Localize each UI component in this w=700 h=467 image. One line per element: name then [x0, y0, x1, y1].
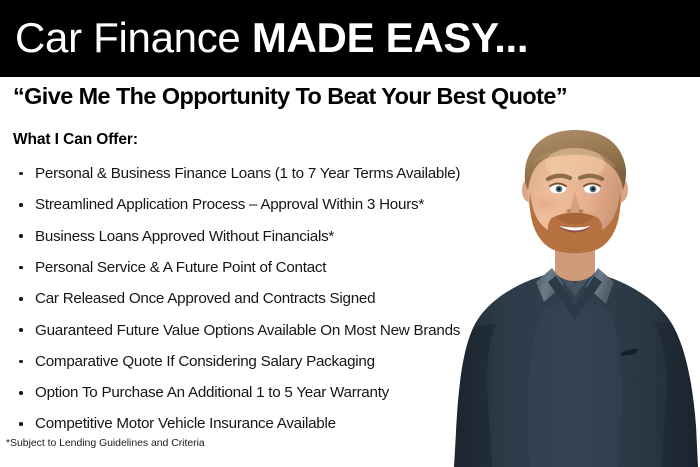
list-item: Competitive Motor Vehicle Insurance Avai… — [13, 408, 543, 439]
bullet-icon — [19, 391, 23, 395]
list-item: Personal & Business Finance Loans (1 to … — [13, 158, 543, 189]
page-title-bold: MADE EASY... — [252, 14, 528, 61]
bullet-icon — [19, 203, 23, 207]
list-item-label: Option To Purchase An Additional 1 to 5 … — [35, 385, 389, 400]
bullet-icon — [19, 297, 23, 301]
page-title: Car Finance MADE EASY... — [15, 17, 528, 59]
car-finance-poster: Car Finance MADE EASY... “Give Me The Op… — [0, 0, 700, 467]
list-item: Personal Service & A Future Point of Con… — [13, 252, 543, 283]
page-title-light: Car Finance — [15, 14, 252, 61]
bullet-icon — [19, 234, 23, 238]
offers-subheading: What I Can Offer: — [13, 131, 138, 149]
bullet-icon — [19, 172, 23, 176]
list-item-label: Personal & Business Finance Loans (1 to … — [35, 166, 460, 181]
bullet-icon — [19, 266, 23, 270]
list-item: Streamlined Application Process – Approv… — [13, 189, 543, 220]
cheek-right — [589, 194, 619, 214]
headline-quote: “Give Me The Opportunity To Beat Your Be… — [13, 84, 687, 109]
list-item-label: Comparative Quote If Considering Salary … — [35, 354, 375, 369]
list-item-label: Competitive Motor Vehicle Insurance Avai… — [35, 416, 336, 431]
bullet-icon — [19, 328, 23, 332]
list-item: Comparative Quote If Considering Salary … — [13, 346, 543, 377]
list-item-label: Guaranteed Future Value Options Availabl… — [35, 323, 460, 338]
list-item-label: Business Loans Approved Without Financia… — [35, 229, 334, 244]
bullet-icon — [19, 360, 23, 364]
header-band: Car Finance MADE EASY... — [0, 0, 700, 77]
list-item-label: Personal Service & A Future Point of Con… — [35, 260, 326, 275]
list-item-label: Car Released Once Approved and Contracts… — [35, 291, 375, 306]
nostril-right — [579, 209, 584, 212]
list-item: Option To Purchase An Additional 1 to 5 … — [13, 377, 543, 408]
list-item-label: Streamlined Application Process – Approv… — [35, 197, 424, 212]
list-item: Car Released Once Approved and Contracts… — [13, 283, 543, 314]
nostril-left — [567, 209, 572, 212]
offers-list: Personal & Business Finance Loans (1 to … — [13, 158, 543, 440]
list-item: Guaranteed Future Value Options Availabl… — [13, 314, 543, 345]
list-item: Business Loans Approved Without Financia… — [13, 221, 543, 252]
bullet-icon — [19, 422, 23, 426]
